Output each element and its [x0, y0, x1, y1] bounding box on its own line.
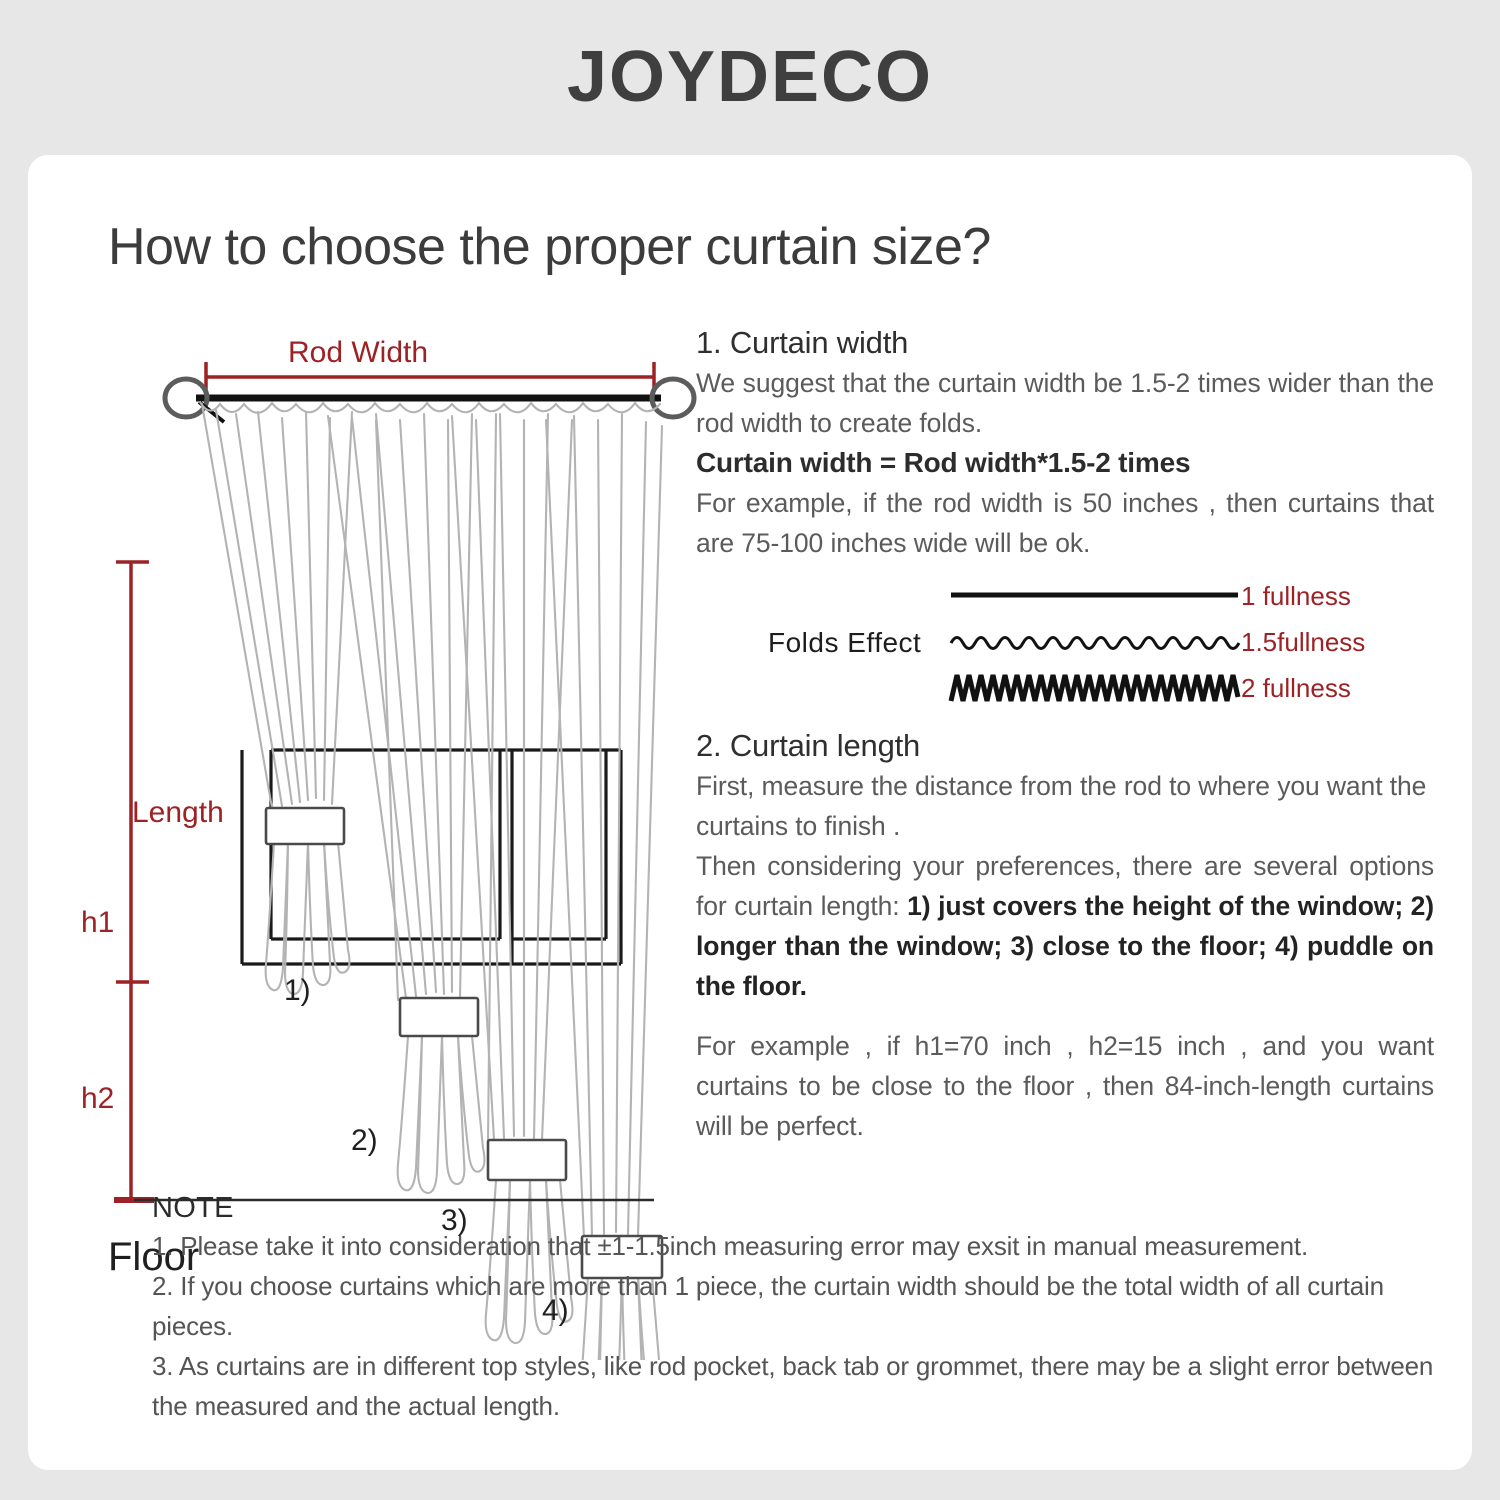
rod-width-dimension [206, 362, 654, 392]
note-item-2: 2. If you choose curtains which are more… [152, 1266, 1452, 1346]
folds-effect-block: Folds Effect 1 fullness 1.5fullness 2 fu… [696, 579, 1434, 714]
section1-paragraph2: For example, if the rod width is 50 inch… [696, 483, 1434, 563]
fullness-label-3: 2 fullness [1241, 673, 1351, 704]
instructions-column: 1. Curtain width We suggest that the cur… [696, 325, 1434, 1146]
section1-heading: 1. Curtain width [696, 325, 1434, 361]
note-heading: NOTE [152, 1192, 1452, 1225]
fullness-label-2: 1.5fullness [1241, 627, 1365, 658]
infographic-root: JOYDECO How to choose the proper curtain… [0, 0, 1500, 1500]
h1-label: h1 [81, 906, 114, 939]
section2-heading: 2. Curtain length [696, 728, 1434, 764]
section2-paragraph1: First, measure the distance from the rod… [696, 766, 1434, 846]
note-item-3: 3. As curtains are in different top styl… [152, 1346, 1452, 1426]
rod-width-label: Rod Width [288, 336, 428, 369]
h2-label: h2 [81, 1082, 114, 1115]
section1-formula: Curtain width = Rod width*1.5-2 times [696, 443, 1434, 483]
content-card: How to choose the proper curtain size? [28, 155, 1472, 1470]
folds-effect-lines [946, 579, 1246, 714]
length-label: Length [132, 796, 224, 829]
brand-title: JOYDECO [0, 36, 1500, 118]
length-dimension [114, 562, 154, 1202]
page-title: How to choose the proper curtain size? [108, 217, 991, 277]
curtain-marker-1: 1) [284, 974, 311, 1007]
note-block: NOTE 1. Please take it into consideratio… [152, 1192, 1452, 1426]
section2-paragraph2: Then considering your preferences, there… [696, 846, 1434, 1006]
curtain-marker-2: 2) [351, 1124, 378, 1157]
fullness-1.5-line [951, 638, 1239, 649]
fullness-label-1: 1 fullness [1241, 581, 1351, 612]
section2-paragraph3: For example , if h1=70 inch , h2=15 inch… [696, 1026, 1434, 1146]
note-item-1: 1. Please take it into consideration tha… [152, 1226, 1452, 1266]
fullness-2-line [951, 675, 1238, 701]
folds-effect-label: Folds Effect [768, 627, 921, 659]
section1-paragraph1: We suggest that the curtain width be 1.5… [696, 363, 1434, 443]
